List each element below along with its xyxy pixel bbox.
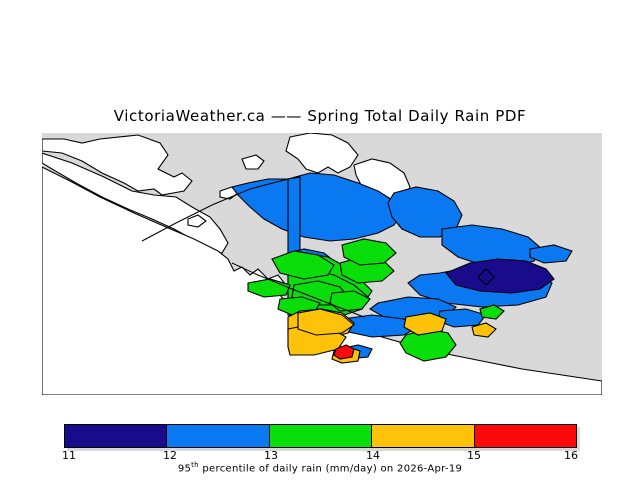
- weather-map-figure: VictoriaWeather.ca —— Spring Total Daily…: [0, 0, 640, 480]
- colorbar-segment-14-15[interactable]: [372, 425, 474, 447]
- colorbar-caption: 95th percentile of daily rain (mm/day) o…: [0, 461, 640, 474]
- colorbar-track[interactable]: [64, 424, 577, 448]
- caption-rest: percentile of daily rain (mm/day) on 202…: [199, 463, 462, 474]
- caption-superscript: th: [191, 461, 199, 469]
- colorbar[interactable]: [64, 424, 577, 448]
- region-blue-far-east-tip: [530, 245, 572, 263]
- region-blue-strip-c: [438, 309, 486, 327]
- region-blue-northwest-coastal: [288, 177, 300, 253]
- land-island-north-a: [286, 133, 358, 173]
- colorbar-segment-13-14[interactable]: [270, 425, 372, 447]
- page-title: VictoriaWeather.ca —— Spring Total Daily…: [0, 107, 640, 125]
- colorbar-segment-15-16[interactable]: [475, 425, 576, 447]
- map-panel[interactable]: [42, 133, 602, 395]
- colorbar-segment-11-12[interactable]: [65, 425, 167, 447]
- colorbar-segment-12-13[interactable]: [167, 425, 269, 447]
- caption-prefix: 95: [178, 463, 191, 474]
- map-svg: [42, 133, 602, 395]
- land-island-small-c: [242, 155, 264, 169]
